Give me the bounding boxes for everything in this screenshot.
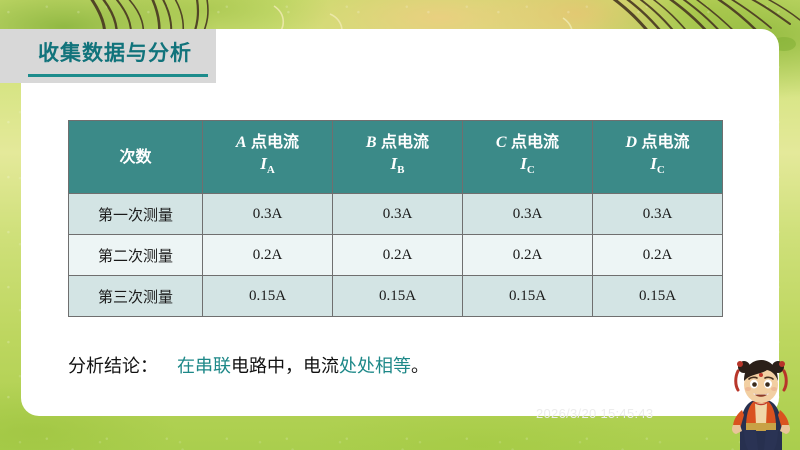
symbol-i-c: I	[520, 154, 527, 173]
table-body: 第一次测量 0.3A 0.3A 0.3A 0.3A 第二次测量 0.2A 0.2…	[69, 194, 723, 317]
point-label-a: A	[236, 134, 247, 151]
subscript-c: C	[527, 165, 535, 177]
cell-value: 0.15A	[463, 276, 593, 317]
cell-value: 0.15A	[333, 276, 463, 317]
cell-value: 0.15A	[203, 276, 333, 317]
table-row: 第三次测量 0.15A 0.15A 0.15A 0.15A	[69, 276, 723, 317]
table-header: 次数 A 点电流 IA B 点电流 IB C 点电流 IC D 点电流 IC	[69, 121, 723, 194]
cell-value: 0.2A	[203, 235, 333, 276]
subscript-b: B	[397, 165, 404, 177]
row-label: 第一次测量	[69, 194, 203, 235]
column-header-count: 次数	[69, 121, 203, 194]
column-header-point-a: A 点电流 IA	[203, 121, 333, 194]
point-label-b: B	[366, 134, 377, 151]
symbol-i-d: I	[650, 154, 657, 173]
cell-value: 0.2A	[333, 235, 463, 276]
cell-value: 0.2A	[463, 235, 593, 276]
column-header-count-label: 次数	[69, 147, 202, 168]
cell-value: 0.15A	[593, 276, 723, 317]
measurement-table: 次数 A 点电流 IA B 点电流 IB C 点电流 IC D 点电流 IC	[68, 120, 723, 317]
cell-value: 0.3A	[593, 194, 723, 235]
mascot-character-icon	[722, 355, 800, 450]
title-underline	[28, 74, 208, 77]
column-header-d-text: 点电流	[642, 134, 690, 151]
row-label: 第三次测量	[69, 276, 203, 317]
conclusion-body: 在串联电路中，电流处处相等。	[158, 352, 448, 380]
table-row: 第二次测量 0.2A 0.2A 0.2A 0.2A	[69, 235, 723, 276]
conclusion-segment-1: 在串联	[177, 356, 231, 376]
subscript-d: C	[657, 165, 665, 177]
table-header-row: 次数 A 点电流 IA B 点电流 IB C 点电流 IC D 点电流 IC	[69, 121, 723, 194]
page-title: 收集数据与分析	[38, 40, 192, 68]
point-label-d: D	[625, 134, 637, 151]
cell-value: 0.2A	[593, 235, 723, 276]
column-header-point-b: B 点电流 IB	[333, 121, 463, 194]
column-header-point-c: C 点电流 IC	[463, 121, 593, 194]
conclusion-lead: 分析结论：	[68, 352, 158, 380]
cell-value: 0.3A	[333, 194, 463, 235]
column-header-c-text: 点电流	[511, 134, 559, 151]
conclusion-segment-2: 电路中，电流	[231, 356, 339, 376]
column-header-a-text: 点电流	[251, 134, 299, 151]
conclusion-block: 分析结论：在串联电路中，电流处处相等。	[68, 352, 528, 380]
slide-canvas: 收集数据与分析 次数 A 点电流 IA B 点电流 IB C 点电流 IC	[0, 0, 800, 450]
point-label-c: C	[496, 134, 507, 151]
cell-value: 0.3A	[463, 194, 593, 235]
subscript-a: A	[267, 165, 275, 177]
column-header-b-text: 点电流	[381, 134, 429, 151]
conclusion-segment-4: 。	[411, 356, 429, 376]
column-header-point-d: D 点电流 IC	[593, 121, 723, 194]
conclusion-segment-3: 处处相等	[339, 356, 411, 376]
cell-value: 0.3A	[203, 194, 333, 235]
symbol-i-a: I	[260, 154, 267, 173]
timestamp-watermark: 2026/3/20 15:45:43	[536, 406, 653, 421]
row-label: 第二次测量	[69, 235, 203, 276]
table-row: 第一次测量 0.3A 0.3A 0.3A 0.3A	[69, 194, 723, 235]
